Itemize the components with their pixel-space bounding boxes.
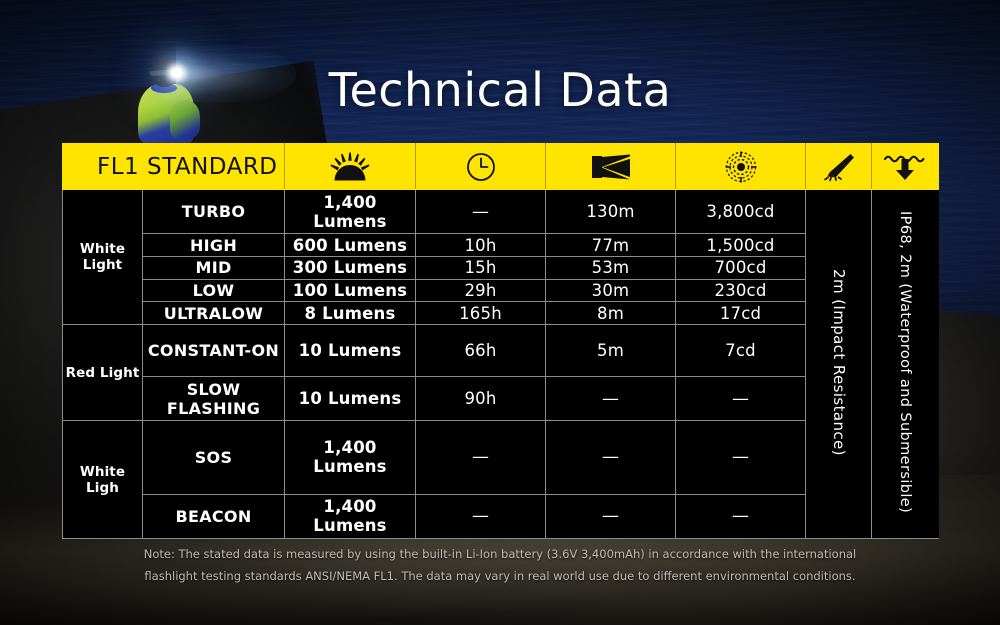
sun-brightness-icon bbox=[285, 144, 416, 190]
impact-resistance-icon bbox=[806, 144, 872, 190]
lumens-value: 8 Lumens bbox=[285, 302, 416, 325]
runtime-value: 90h bbox=[416, 376, 546, 420]
intensity-value: 17cd bbox=[676, 302, 806, 325]
runtime-value: 66h bbox=[416, 325, 546, 377]
lumens-value: 1,400 Lumens bbox=[285, 190, 416, 234]
group-label-white-light: White Light bbox=[63, 190, 143, 325]
intensity-value: 1,500cd bbox=[676, 234, 806, 257]
mode-label: MID bbox=[143, 257, 285, 280]
footnote-line-2: flashlight testing standards ANSI/NEMA F… bbox=[60, 565, 940, 587]
runtime-value: — bbox=[416, 494, 546, 538]
page-title: Technical Data bbox=[0, 63, 1000, 117]
lumens-value: 100 Lumens bbox=[285, 279, 416, 302]
table-header-row: FL1 STANDARD bbox=[63, 144, 939, 190]
mode-label: SLOW FLASHING bbox=[143, 376, 285, 420]
distance-value: 5m bbox=[546, 325, 676, 377]
distance-value: — bbox=[546, 421, 676, 494]
footnote-line-1: Note: The stated data is measured by usi… bbox=[60, 543, 940, 565]
technical-data-infographic: Technical Data FL1 STANDARD bbox=[0, 0, 1000, 625]
distance-value: 130m bbox=[546, 190, 676, 234]
runtime-value: 29h bbox=[416, 279, 546, 302]
distance-value: 30m bbox=[546, 279, 676, 302]
distance-value: — bbox=[546, 494, 676, 538]
intensity-value: 7cd bbox=[676, 325, 806, 377]
lumens-value: 600 Lumens bbox=[285, 234, 416, 257]
intensity-value: — bbox=[676, 421, 806, 494]
impact-resistance-cell: 2m (Impact Resistance) bbox=[806, 190, 872, 539]
mode-label: BEACON bbox=[143, 494, 285, 538]
peak-beam-intensity-icon bbox=[676, 144, 806, 190]
runtime-value: 15h bbox=[416, 257, 546, 280]
intensity-value: 230cd bbox=[676, 279, 806, 302]
runtime-value: — bbox=[416, 421, 546, 494]
beam-distance-icon bbox=[546, 144, 676, 190]
lumens-value: 10 Lumens bbox=[285, 376, 416, 420]
waterproof-icon bbox=[872, 144, 939, 190]
mode-label: SOS bbox=[143, 421, 285, 494]
mode-label: HIGH bbox=[143, 234, 285, 257]
technical-data-table: FL1 STANDARD bbox=[62, 143, 938, 539]
mode-label: LOW bbox=[143, 279, 285, 302]
lumens-value: 300 Lumens bbox=[285, 257, 416, 280]
waterproof-cell: IP68, 2m (Waterproof and Submersible) bbox=[872, 190, 939, 539]
lumens-value: 1,400 Lumens bbox=[285, 494, 416, 538]
table-row: White Light TURBO 1,400 Lumens — 130m 3,… bbox=[63, 190, 939, 234]
clock-icon bbox=[416, 144, 546, 190]
intensity-value: — bbox=[676, 494, 806, 538]
mode-label: ULTRALOW bbox=[143, 302, 285, 325]
distance-value: 53m bbox=[546, 257, 676, 280]
intensity-value: — bbox=[676, 376, 806, 420]
runtime-value: — bbox=[416, 190, 546, 234]
runtime-value: 10h bbox=[416, 234, 546, 257]
mode-label: TURBO bbox=[143, 190, 285, 234]
runtime-value: 165h bbox=[416, 302, 546, 325]
group-label-white-light-2: White Ligh bbox=[63, 421, 143, 539]
header-fl1-standard: FL1 STANDARD bbox=[63, 144, 285, 190]
lumens-value: 1,400 Lumens bbox=[285, 421, 416, 494]
distance-value: 8m bbox=[546, 302, 676, 325]
distance-value: 77m bbox=[546, 234, 676, 257]
distance-value: — bbox=[546, 376, 676, 420]
intensity-value: 700cd bbox=[676, 257, 806, 280]
waterproof-text: IP68, 2m (Waterproof and Submersible) bbox=[896, 211, 914, 513]
intensity-value: 3,800cd bbox=[676, 190, 806, 234]
footnote: Note: The stated data is measured by usi… bbox=[60, 543, 940, 587]
group-label-red-light: Red Light bbox=[63, 325, 143, 421]
impact-resistance-text: 2m (Impact Resistance) bbox=[829, 269, 848, 456]
lumens-value: 10 Lumens bbox=[285, 325, 416, 377]
mode-label: CONSTANT-ON bbox=[143, 325, 285, 377]
